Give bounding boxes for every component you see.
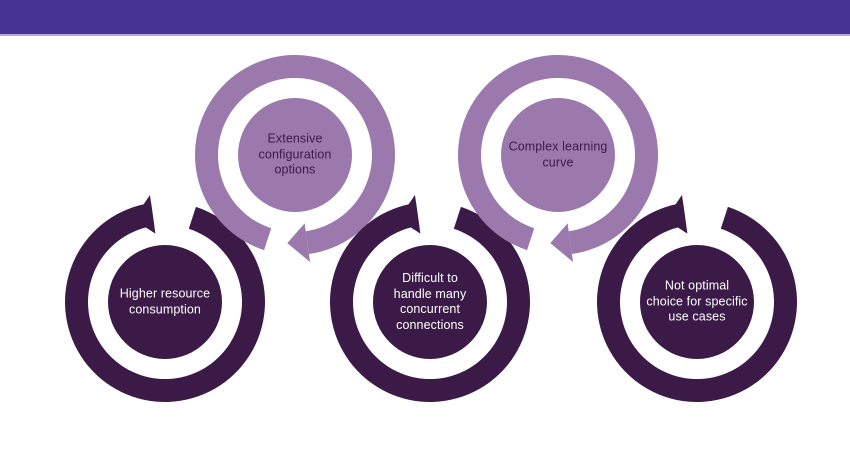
arrowhead-icon-4 xyxy=(550,223,573,262)
process-diagram: Higher resource consumptionExtensive con… xyxy=(0,36,850,450)
arrowhead-icon-2 xyxy=(287,223,310,262)
node-disc-1[interactable] xyxy=(108,245,222,359)
header-bar xyxy=(0,0,850,34)
infographic-page: theknowledgeacademy Higher resource cons… xyxy=(0,0,850,450)
node-disc-2[interactable] xyxy=(238,98,352,212)
node-disc-3[interactable] xyxy=(373,245,487,359)
node-disc-4[interactable] xyxy=(501,98,615,212)
node-disc-5[interactable] xyxy=(640,245,754,359)
diagram-canvas xyxy=(0,36,850,450)
